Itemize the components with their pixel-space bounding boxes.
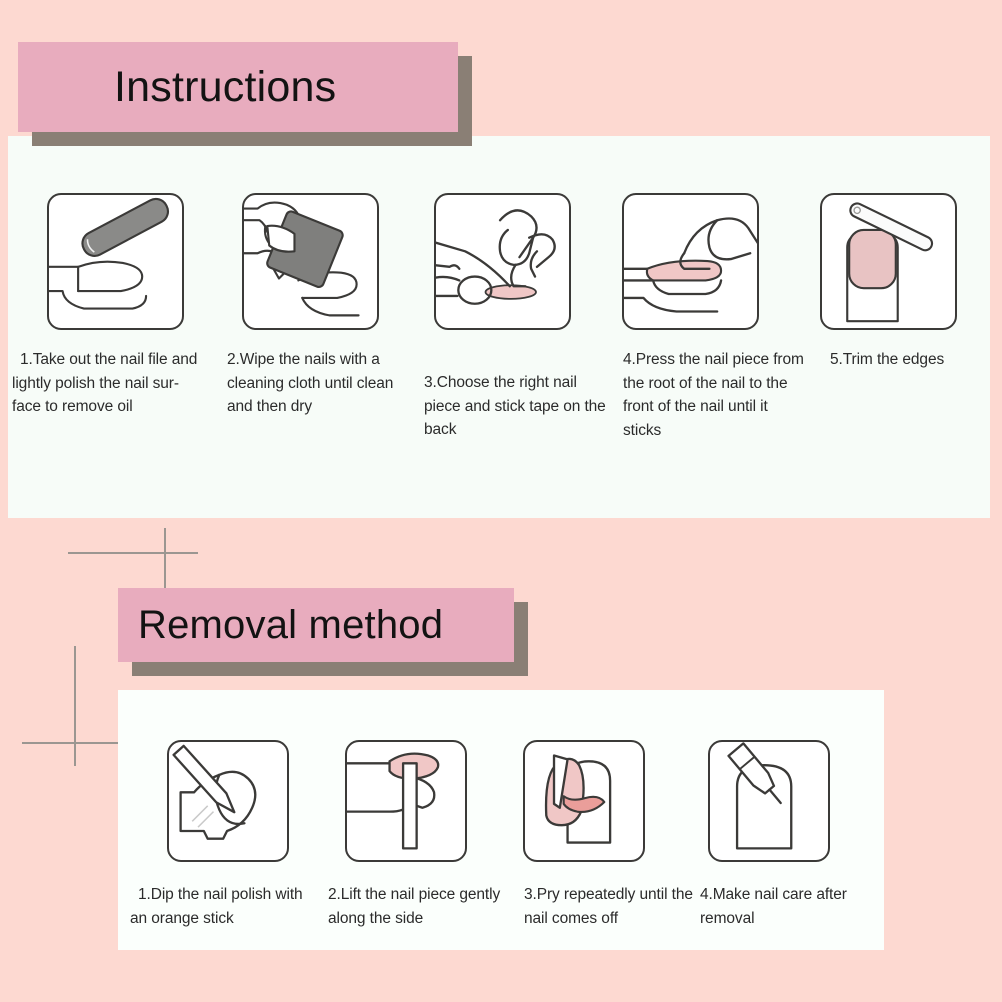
caption-line: the root of the nail to the	[623, 372, 823, 396]
trim-edges-icon	[822, 195, 955, 328]
choose-nail-piece-icon	[436, 195, 569, 328]
crosshair-horizontal-line	[68, 552, 198, 554]
caption-removal-2: 2.Lift the nail piece gently along the s…	[328, 883, 524, 930]
nail-file-polish-icon	[49, 195, 182, 328]
caption-removal-3: 3.Pry repeatedly until the nail comes of…	[524, 883, 714, 930]
caption-line: 1.Dip the nail polish with	[130, 883, 330, 907]
caption-line: 5.Trim the edges	[830, 348, 990, 372]
caption-line: face to remove oil	[12, 395, 222, 419]
caption-removal-1: 1.Dip the nail polish with an orange sti…	[130, 883, 330, 930]
crosshair-vertical-line	[74, 646, 76, 766]
orange-stick-dip-icon	[169, 742, 287, 860]
caption-line: piece and stick tape on the	[424, 395, 630, 419]
caption-line: front of the nail until it	[623, 395, 823, 419]
caption-line: an orange stick	[130, 907, 330, 931]
caption-line: 2.Wipe the nails with a	[227, 348, 435, 372]
caption-line: 4.Make nail care after	[700, 883, 880, 907]
caption-line: and then dry	[227, 395, 435, 419]
instructions-title: Instructions	[114, 63, 336, 112]
caption-line: 4.Press the nail piece from	[623, 348, 823, 372]
caption-instructions-2: 2.Wipe the nails with a cleaning cloth u…	[227, 348, 435, 419]
caption-line: 3.Pry repeatedly until the	[524, 883, 714, 907]
illustration-box-instructions-3	[434, 193, 571, 330]
cleaning-cloth-icon	[244, 195, 377, 328]
pry-nail-piece-icon	[525, 742, 643, 860]
caption-line: nail comes off	[524, 907, 714, 931]
caption-instructions-5: 5.Trim the edges	[830, 348, 990, 372]
illustration-box-instructions-5	[820, 193, 957, 330]
caption-removal-4: 4.Make nail care after removal	[700, 883, 880, 930]
removal-title: Removal method	[138, 603, 443, 648]
instructions-header-band: Instructions	[18, 42, 458, 132]
crosshair-vertical-line	[164, 528, 166, 588]
press-nail-piece-icon	[624, 195, 757, 328]
illustration-box-instructions-1	[47, 193, 184, 330]
caption-line: lightly polish the nail sur-	[12, 372, 222, 396]
caption-instructions-1: 1.Take out the nail file and lightly pol…	[12, 348, 222, 419]
caption-line: back	[424, 418, 630, 442]
caption-line: 3.Choose the right nail	[424, 371, 630, 395]
instructions-header: Instructions	[18, 42, 468, 142]
caption-instructions-4: 4.Press the nail piece from the root of …	[623, 348, 823, 442]
illustration-box-instructions-2	[242, 193, 379, 330]
caption-line: 2.Lift the nail piece gently	[328, 883, 524, 907]
caption-line: removal	[700, 907, 880, 931]
caption-line: sticks	[623, 419, 823, 443]
caption-line: 1.Take out the nail file and	[12, 348, 222, 372]
removal-header: Removal method	[118, 588, 538, 678]
lift-nail-piece-icon	[347, 742, 465, 860]
caption-line: along the side	[328, 907, 524, 931]
illustration-box-removal-4	[708, 740, 830, 862]
illustration-box-removal-1	[167, 740, 289, 862]
removal-header-band: Removal method	[118, 588, 514, 662]
caption-line: cleaning cloth until clean	[227, 372, 435, 396]
illustration-box-removal-3	[523, 740, 645, 862]
nail-care-icon	[710, 742, 828, 860]
crosshair-mark-top	[68, 528, 198, 588]
caption-instructions-3: 3.Choose the right nail piece and stick …	[424, 371, 630, 442]
illustration-box-instructions-4	[622, 193, 759, 330]
illustration-box-removal-2	[345, 740, 467, 862]
